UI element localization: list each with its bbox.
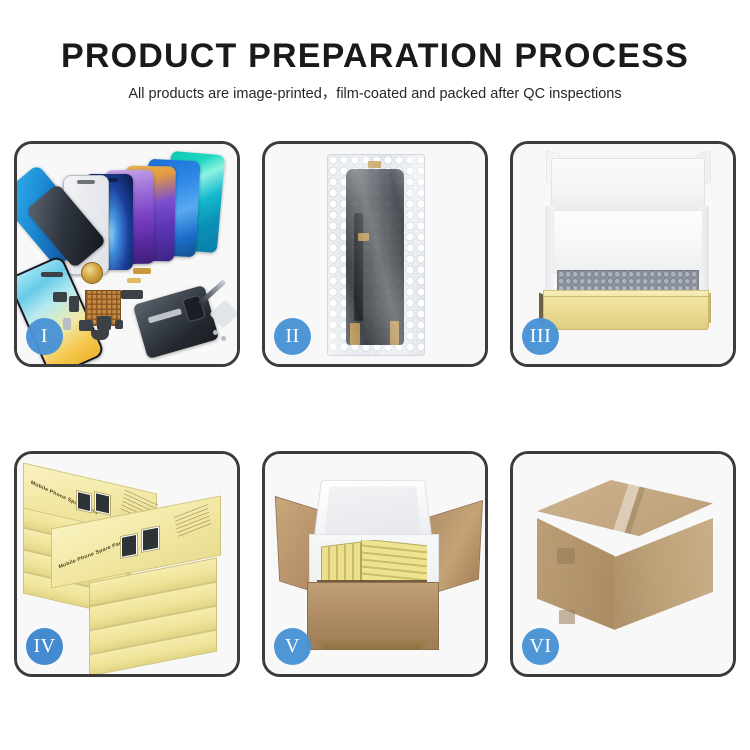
notch-icon xyxy=(77,180,95,184)
spare-part-screw xyxy=(213,330,218,335)
spare-part-screw-plate xyxy=(115,320,123,329)
process-step-grid: I II xyxy=(14,141,736,686)
foam-sheet xyxy=(553,210,703,274)
spare-part-buzzer xyxy=(91,330,109,340)
box-lid-open xyxy=(551,158,705,216)
tape-piece xyxy=(358,233,369,241)
step-4-illustration: Mobile Phone Spare Parts Mobile Phone Sp… xyxy=(17,454,237,674)
styrofoam-liner-cavity xyxy=(319,540,427,584)
spare-part-earpiece xyxy=(97,316,111,330)
spare-part-screw xyxy=(221,336,226,341)
tape-piece xyxy=(350,323,360,345)
box-window xyxy=(76,490,92,514)
carton-face-left xyxy=(537,518,615,630)
spare-part-connector xyxy=(41,272,63,277)
page-subtitle: All products are image-printed，film-coat… xyxy=(0,85,750,103)
process-step-3: III xyxy=(510,141,736,367)
header: PRODUCT PREPARATION PROCESS All products… xyxy=(0,36,750,103)
yellow-box-stack-right xyxy=(361,540,427,584)
box-label-text: Mobile Phone Spare Parts xyxy=(58,539,127,571)
page-title: PRODUCT PREPARATION PROCESS xyxy=(0,36,750,76)
process-step-2: II xyxy=(262,141,488,367)
vibration-motor-part xyxy=(81,262,103,284)
product-preparation-infographic: PRODUCT PREPARATION PROCESS All products… xyxy=(0,0,750,750)
spare-part-flex-gold xyxy=(133,268,151,274)
process-step-4: Mobile Phone Spare Parts Mobile Phone Sp… xyxy=(14,451,240,677)
carton-face-right xyxy=(614,518,713,630)
step-badge-2: II xyxy=(274,318,311,355)
step-1-illustration: I xyxy=(17,144,237,364)
spare-part-ribbon xyxy=(69,296,79,312)
box-window xyxy=(120,533,138,559)
process-step-1: I xyxy=(14,141,240,367)
step-badge-6: VI xyxy=(522,628,559,665)
styrofoam-lid-inset xyxy=(324,487,421,538)
box-window xyxy=(94,491,111,516)
step-6-illustration: VI xyxy=(513,454,733,674)
carton-base xyxy=(307,640,437,650)
wrapped-flex-cable xyxy=(354,213,363,321)
step-badge-1: I xyxy=(26,318,63,355)
tape-piece xyxy=(390,321,399,345)
step-5-illustration: V xyxy=(265,454,485,674)
carton-tape-lower xyxy=(559,610,575,624)
process-step-6: VI xyxy=(510,451,736,677)
step-badge-5: V xyxy=(274,628,311,665)
box-window xyxy=(141,525,160,553)
step-2-illustration: II xyxy=(265,144,485,364)
tape-piece xyxy=(368,161,381,168)
spare-part-flex-cable xyxy=(121,290,143,299)
spare-part-flex-gold-2 xyxy=(127,278,141,283)
process-step-5: V xyxy=(262,451,488,677)
yellow-box-stack-left xyxy=(321,542,361,584)
battery-strip xyxy=(148,308,182,323)
step-badge-3: III xyxy=(522,318,559,355)
step-badge-4: IV xyxy=(26,628,63,665)
box-spec-lines xyxy=(174,504,212,540)
spare-part-bracket xyxy=(53,292,67,302)
spare-part-sim-tray xyxy=(63,318,71,330)
bubble-wrap-bag xyxy=(327,154,425,356)
box-front-panel xyxy=(543,296,709,330)
carton-tape-upper xyxy=(557,548,575,564)
step-3-illustration: III xyxy=(513,144,733,364)
carton-body xyxy=(307,582,439,650)
